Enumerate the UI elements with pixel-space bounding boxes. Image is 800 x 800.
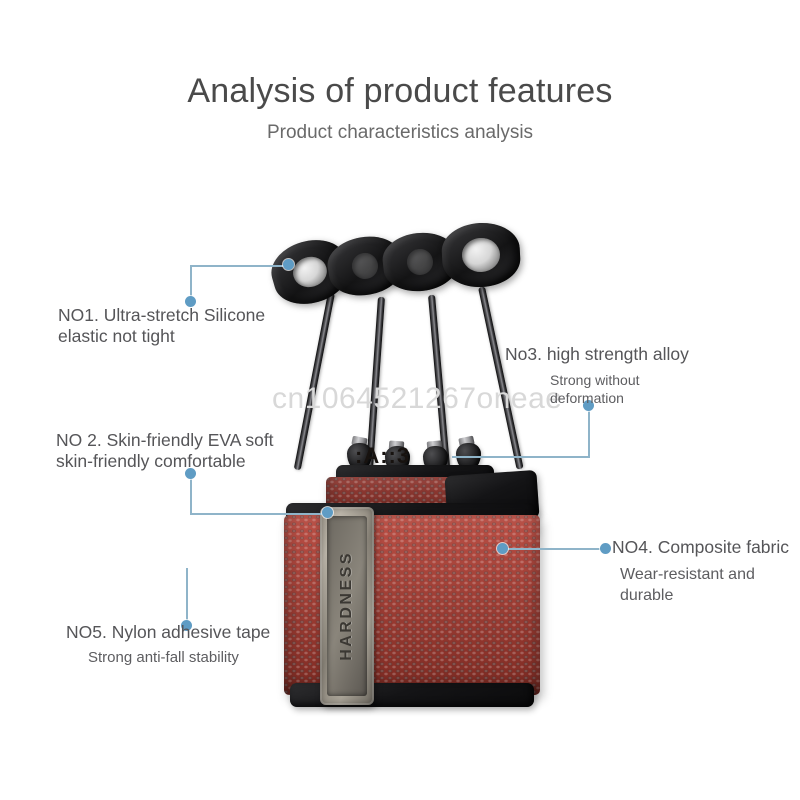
callout-no5-title: NO5. Nylon adhesive tape <box>66 622 311 643</box>
connector-line-no2-vertical <box>190 474 192 514</box>
brand-label: HARDNESS <box>338 551 356 661</box>
callout-no5: NO5. Nylon adhesive tape Strong anti-fal… <box>66 622 311 667</box>
callout-no3-title: No3. high strength alloy <box>505 344 735 365</box>
callout-no3: No3. high strength alloy Strong without … <box>505 344 735 407</box>
callout-no5-description: Strong anti-fall stability <box>66 649 311 667</box>
connector-line-no3-horizontal <box>452 456 590 458</box>
callout-no3-description: Strong without deformation <box>505 371 735 407</box>
callout-no4-title: NO4. Composite fabric <box>612 537 797 558</box>
connector-line-no5-vertical <box>186 568 188 626</box>
connector-line-no4-horizontal <box>502 548 606 550</box>
infographic-canvas: Analysis of product features Product cha… <box>0 0 800 800</box>
connector-dot-no4-label <box>600 543 611 554</box>
callout-no1-title: NO1. Ultra-stretch Silicone elastic not … <box>58 305 298 347</box>
callout-no1: NO1. Ultra-stretch Silicone elastic not … <box>58 305 298 347</box>
connector-dot-no4-target <box>497 543 508 554</box>
callout-no2: NO 2. Skin-friendly EVA soft skin-friend… <box>56 430 306 472</box>
connector-line-no1-horizontal <box>190 265 290 267</box>
page-title: Analysis of product features <box>0 72 800 111</box>
callout-no2-title: NO 2. Skin-friendly EVA soft skin-friend… <box>56 430 306 472</box>
connector-line-no3-vertical <box>588 406 590 457</box>
page-subtitle: Product characteristics analysis <box>0 122 800 144</box>
connector-dot-no1-target <box>283 259 294 270</box>
hardness-buckle: HARDNESS <box>320 507 374 705</box>
callout-no4-description: Wear-resistant and durable <box>612 564 797 606</box>
connector-dot-no2-target <box>322 507 333 518</box>
product-marking: :A::3 <box>355 443 410 469</box>
callout-no4: NO4. Composite fabric Wear-resistant and… <box>612 537 797 606</box>
connector-line-no2-horizontal <box>190 513 328 515</box>
finger-ring-4 <box>440 221 521 289</box>
